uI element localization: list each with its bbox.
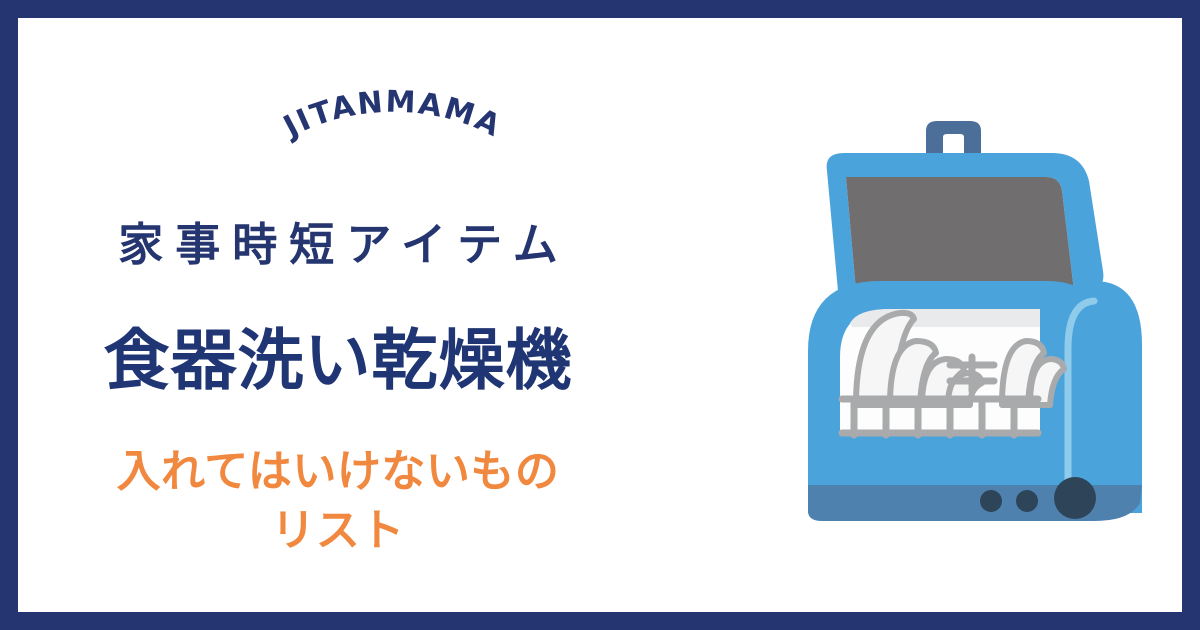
kicker-line-2: リスト bbox=[18, 501, 658, 560]
dishwasher-illustration bbox=[794, 113, 1164, 533]
poster-inner: JITANMAMA 家事時短アイテム 食器洗い乾燥機 入れてはいけないもの リス… bbox=[18, 18, 1182, 612]
control-button-1[interactable] bbox=[980, 490, 1002, 512]
brand-arc-logo: JITANMAMA bbox=[233, 103, 553, 193]
poster-card: JITANMAMA 家事時短アイテム 食器洗い乾燥機 入れてはいけないもの リス… bbox=[0, 0, 1200, 630]
control-dial[interactable] bbox=[1054, 477, 1096, 519]
lid bbox=[827, 153, 1104, 291]
control-button-2[interactable] bbox=[1016, 490, 1038, 512]
lid-handle-icon bbox=[926, 121, 981, 156]
page-title: 食器洗い乾燥機 bbox=[18, 326, 658, 395]
brand-letter-m1: M bbox=[385, 85, 418, 121]
side-door bbox=[1046, 281, 1142, 513]
text-column: JITANMAMA 家事時短アイテム 食器洗い乾燥機 入れてはいけないもの リス… bbox=[18, 18, 658, 612]
kicker-line-1: 入れてはいけないもの bbox=[18, 442, 658, 501]
brand-arc-text: JITANMAMA bbox=[276, 85, 507, 146]
kicker-text: 入れてはいけないもの リスト bbox=[18, 442, 658, 561]
lid-inner-face bbox=[846, 177, 1074, 291]
subtitle: 家事時短アイテム bbox=[18, 221, 658, 268]
brand-letter-n: N bbox=[356, 85, 386, 122]
